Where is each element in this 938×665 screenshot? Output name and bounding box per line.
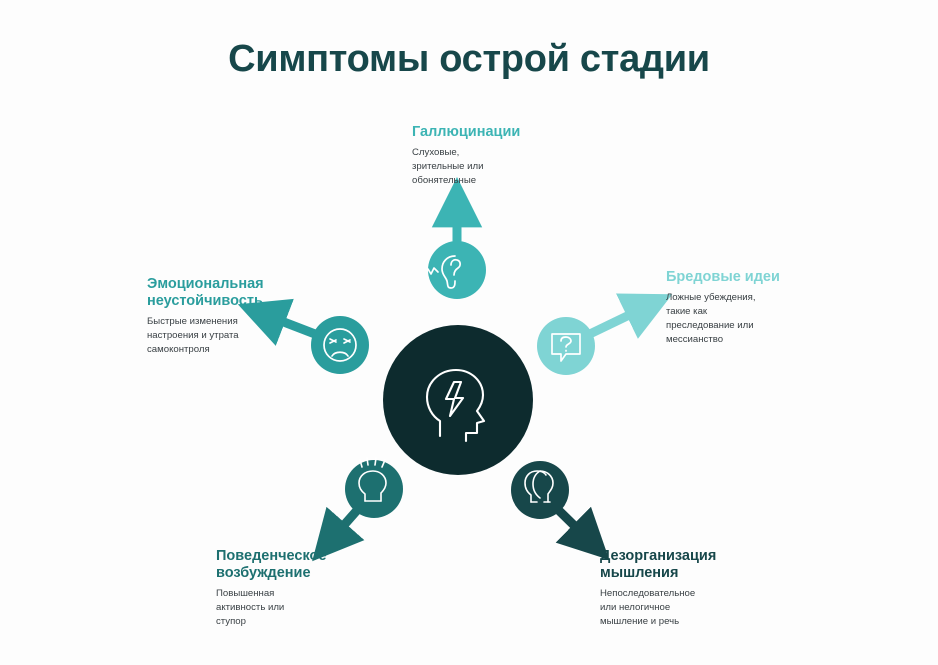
node-agitation[interactable] <box>345 458 403 518</box>
node-disorganized[interactable] <box>511 461 569 519</box>
heading-disorganized: Дезорганизация мышления <box>600 548 780 582</box>
node-circle-disorganized[interactable] <box>511 461 569 519</box>
node-emotional[interactable] <box>311 316 369 374</box>
body-delusions: Ложные убеждения, такие как преследовани… <box>666 291 841 347</box>
body-emotional: Быстрые изменения настроения и утрата са… <box>147 315 297 357</box>
text-block-hallucinations: Галлюцинации Слуховые, зрительные или об… <box>412 124 587 188</box>
heading-hallucinations: Галлюцинации <box>412 124 587 141</box>
heading-agitation: Поведенческое возбуждение <box>216 548 386 582</box>
heading-delusions: Бредовые идеи <box>666 269 841 286</box>
center-circle <box>383 325 533 475</box>
body-agitation: Повышенная активность или ступор <box>216 587 386 629</box>
infographic-page: Симптомы острой стадии <box>0 0 938 665</box>
node-hallucinations[interactable] <box>428 241 486 299</box>
text-block-delusions: Бредовые идеи Ложные убеждения, такие ка… <box>666 269 841 347</box>
node-circle-agitation[interactable] <box>345 460 403 518</box>
text-block-disorganized: Дезорганизация мышления Непоследовательн… <box>600 548 780 629</box>
body-disorganized: Непоследовательное или нелогичное мышлен… <box>600 587 780 629</box>
center-node <box>383 325 533 475</box>
heading-emotional: Эмоциональная неустойчивость <box>147 276 297 310</box>
node-circle-emotional[interactable] <box>311 316 369 374</box>
node-delusions[interactable] <box>537 317 595 375</box>
body-hallucinations: Слуховые, зрительные или обонятельные <box>412 146 587 188</box>
text-block-emotional: Эмоциональная неустойчивость Быстрые изм… <box>147 276 297 357</box>
text-block-agitation: Поведенческое возбуждение Повышенная акт… <box>216 548 386 629</box>
